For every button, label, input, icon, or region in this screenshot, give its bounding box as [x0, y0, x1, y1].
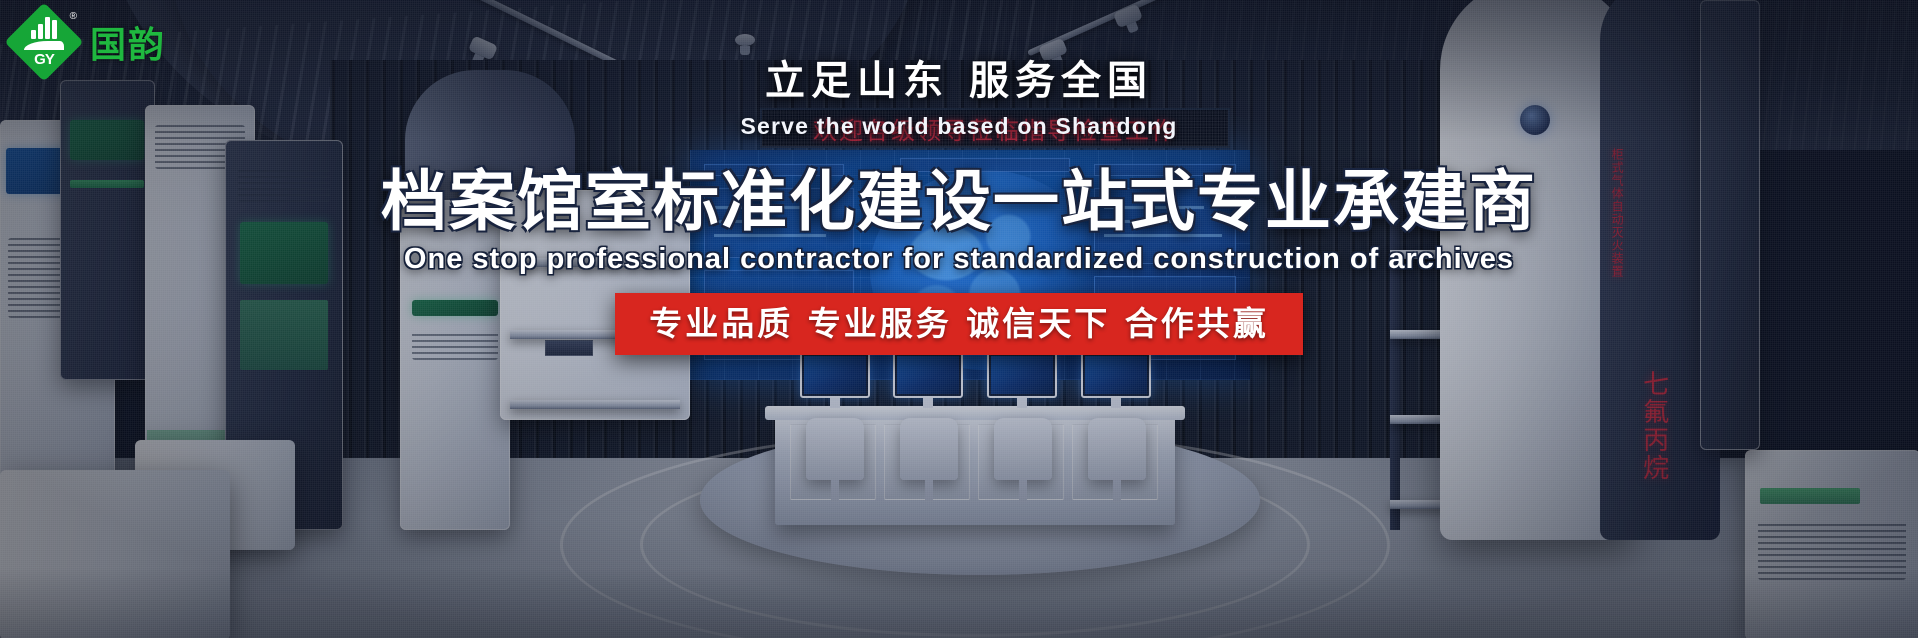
gy-building-diamond-logo-icon: GY ®: [10, 8, 78, 76]
logo-initials: GY: [34, 52, 54, 67]
hero-headline-en: One stop professional contractor for sta…: [0, 243, 1918, 276]
hero-cta-button[interactable]: 专业品质 专业服务 诚信天下 合作共赢: [615, 293, 1302, 355]
hero-banner: 欢迎各级领导莅临指导检查工作: [0, 0, 1918, 638]
registered-trademark-icon: ®: [70, 11, 77, 22]
hero-text-overlay: 立足山东 服务全国 Serve the world based on Shand…: [0, 0, 1918, 638]
logo-swoosh-icon: [24, 41, 64, 50]
hero-headline-cn: 档案馆室标准化建设一站式专业承建商: [0, 148, 1918, 244]
hero-tagline-en: Serve the world based on Shandong: [0, 113, 1918, 140]
company-logo[interactable]: GY ® 国韵: [10, 8, 166, 76]
logo-building-bars-icon: [31, 17, 57, 39]
logo-glyph: GY: [10, 8, 78, 76]
hero-tagline-cn: 立足山东 服务全国: [0, 48, 1918, 106]
hero-cta-wrapper: 专业品质 专业服务 诚信天下 合作共赢: [0, 293, 1918, 355]
company-name: 国韵: [90, 16, 166, 68]
